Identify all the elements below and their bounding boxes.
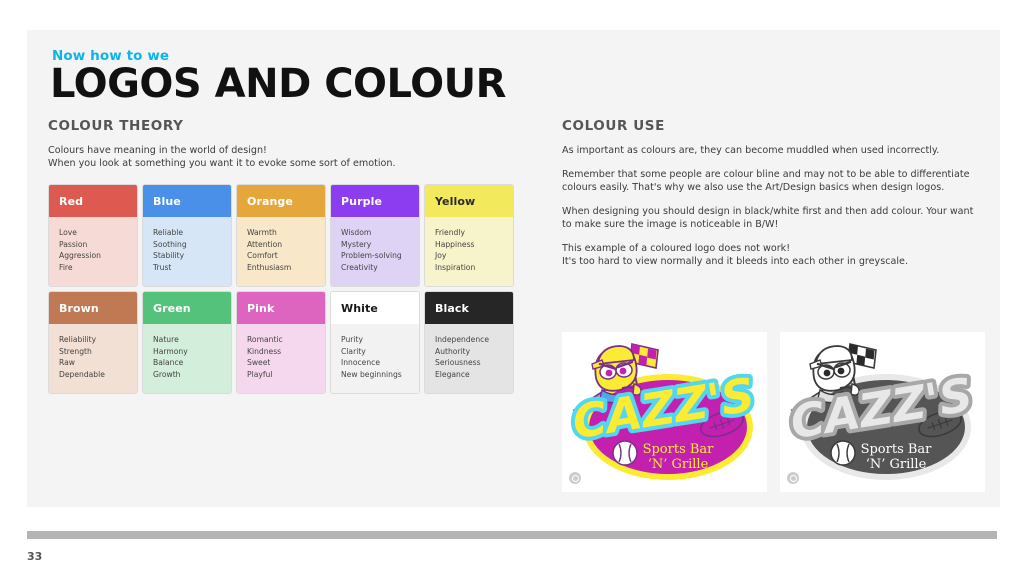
colour-card-traits: IndependenceAuthoritySeriousnessElegance	[425, 324, 513, 393]
colour-trait-item: Strength	[59, 346, 137, 358]
colour-card-name: Orange	[237, 185, 325, 217]
colour-card: BlueReliableSoothingStabilityTrust	[142, 184, 232, 287]
colour-trait-item: Authority	[435, 346, 513, 358]
colour-trait-item: Romantic	[247, 334, 325, 346]
colour-trait-item: Friendly	[435, 227, 513, 239]
colour-trait-item: Balance	[153, 357, 231, 369]
colour-trait-item: Clarity	[341, 346, 419, 358]
colour-card: WhitePurityClarityInnocenceNew beginning…	[330, 291, 420, 394]
colour-trait-item: Independence	[435, 334, 513, 346]
colour-trait-item: Aggression	[59, 250, 137, 262]
colour-use-paragraph: Remember that some people are colour bli…	[562, 168, 982, 194]
colour-card-traits: LovePassionAggressionFire	[49, 217, 137, 286]
colour-card: BlackIndependenceAuthoritySeriousnessEle…	[424, 291, 514, 394]
colour-use-paragraph: As important as colours are, they can be…	[562, 144, 982, 157]
colour-trait-item: Reliability	[59, 334, 137, 346]
camera-badge-icon	[569, 472, 581, 484]
page-title: LOGOS AND COLOUR	[50, 62, 506, 106]
svg-text:‘N’ Grille: ‘N’ Grille	[648, 457, 709, 472]
colour-trait-item: Happiness	[435, 239, 513, 251]
section-title-colour-theory: COLOUR THEORY	[48, 118, 548, 134]
colour-card-name: Green	[143, 292, 231, 324]
colour-card: GreenNatureHarmonyBalanceGrowth	[142, 291, 232, 394]
intro-line-1: Colours have meaning in the world of des…	[48, 144, 548, 157]
colour-card: PurpleWisdomMysteryProblem-solvingCreati…	[330, 184, 420, 287]
colour-trait-item: Soothing	[153, 239, 231, 251]
colour-trait-item: Stability	[153, 250, 231, 262]
colour-trait-item: Nature	[153, 334, 231, 346]
logo-example-colour: CAZZ'S CAZZ'S Sports Bar ‘N’ Grille	[562, 332, 767, 492]
colour-theory-column: COLOUR THEORY Colours have meaning in th…	[48, 118, 548, 394]
colour-trait-item: Trust	[153, 262, 231, 274]
colour-card-traits: WarmthAttentionComfortEnthusiasm	[237, 217, 325, 286]
colour-trait-item: Harmony	[153, 346, 231, 358]
colour-trait-item: Problem-solving	[341, 250, 419, 262]
footer-divider-bar	[27, 531, 997, 539]
colour-trait-item: Creativity	[341, 262, 419, 274]
page-number: 33	[27, 550, 42, 563]
slide: Now how to we LOGOS AND COLOUR COLOUR TH…	[0, 0, 1024, 576]
colour-card-name: Black	[425, 292, 513, 324]
colour-card-name: White	[331, 292, 419, 324]
svg-text:Sports Bar: Sports Bar	[643, 442, 715, 457]
colour-trait-item: Elegance	[435, 369, 513, 381]
colour-card: RedLovePassionAggressionFire	[48, 184, 138, 287]
colour-trait-item: Purity	[341, 334, 419, 346]
logo-example-greyscale: CAZZ'S CAZZ'S Sports Bar ‘N’ Grille	[780, 332, 985, 492]
colour-trait-item: Raw	[59, 357, 137, 369]
colour-card-name: Brown	[49, 292, 137, 324]
svg-text:Sports Bar: Sports Bar	[861, 442, 933, 457]
colour-trait-item: Warmth	[247, 227, 325, 239]
camera-badge-icon	[787, 472, 799, 484]
colour-trait-item: New beginnings	[341, 369, 419, 381]
colour-trait-item: Joy	[435, 250, 513, 262]
colour-trait-item: Seriousness	[435, 357, 513, 369]
colour-trait-item: Sweet	[247, 357, 325, 369]
colour-trait-item: Growth	[153, 369, 231, 381]
colour-card-grid: RedLovePassionAggressionFireBlueReliable…	[48, 184, 518, 394]
colour-card-traits: NatureHarmonyBalanceGrowth	[143, 324, 231, 393]
colour-card-name: Red	[49, 185, 137, 217]
colour-card: YellowFriendlyHappinessJoyInspiration	[424, 184, 514, 287]
colour-theory-intro: Colours have meaning in the world of des…	[48, 144, 548, 170]
colour-trait-item: Kindness	[247, 346, 325, 358]
colour-card-traits: PurityClarityInnocenceNew beginnings	[331, 324, 419, 393]
colour-use-paragraph: When designing you should design in blac…	[562, 205, 982, 231]
colour-use-paragraph: This example of a coloured logo does not…	[562, 242, 982, 268]
svg-text:‘N’ Grille: ‘N’ Grille	[866, 457, 927, 472]
intro-line-2: When you look at something you want it t…	[48, 157, 548, 170]
colour-trait-item: Attention	[247, 239, 325, 251]
colour-card-traits: FriendlyHappinessJoyInspiration	[425, 217, 513, 286]
colour-use-column: COLOUR USE As important as colours are, …	[562, 118, 982, 268]
colour-card: OrangeWarmthAttentionComfortEnthusiasm	[236, 184, 326, 287]
colour-trait-item: Enthusiasm	[247, 262, 325, 274]
colour-card-name: Yellow	[425, 185, 513, 217]
colour-trait-item: Passion	[59, 239, 137, 251]
colour-trait-item: Wisdom	[341, 227, 419, 239]
colour-trait-item: Mystery	[341, 239, 419, 251]
colour-trait-item: Innocence	[341, 357, 419, 369]
colour-card-name: Blue	[143, 185, 231, 217]
colour-card-traits: WisdomMysteryProblem-solvingCreativity	[331, 217, 419, 286]
colour-trait-item: Fire	[59, 262, 137, 274]
colour-trait-item: Reliable	[153, 227, 231, 239]
colour-trait-item: Inspiration	[435, 262, 513, 274]
colour-card-name: Pink	[237, 292, 325, 324]
colour-card-traits: ReliabilityStrengthRawDependable	[49, 324, 137, 393]
colour-use-paragraphs: As important as colours are, they can be…	[562, 144, 982, 268]
colour-trait-item: Playful	[247, 369, 325, 381]
colour-trait-item: Dependable	[59, 369, 137, 381]
colour-trait-item: Love	[59, 227, 137, 239]
colour-card-traits: ReliableSoothingStabilityTrust	[143, 217, 231, 286]
slide-canvas: Now how to we LOGOS AND COLOUR COLOUR TH…	[27, 30, 1000, 507]
colour-trait-item: Comfort	[247, 250, 325, 262]
colour-card-name: Purple	[331, 185, 419, 217]
section-title-colour-use: COLOUR USE	[562, 118, 982, 134]
logo-example-row: CAZZ'S CAZZ'S Sports Bar ‘N’ Grille	[562, 332, 987, 492]
colour-card-traits: RomanticKindnessSweetPlayful	[237, 324, 325, 393]
colour-card: PinkRomanticKindnessSweetPlayful	[236, 291, 326, 394]
colour-card: BrownReliabilityStrengthRawDependable	[48, 291, 138, 394]
